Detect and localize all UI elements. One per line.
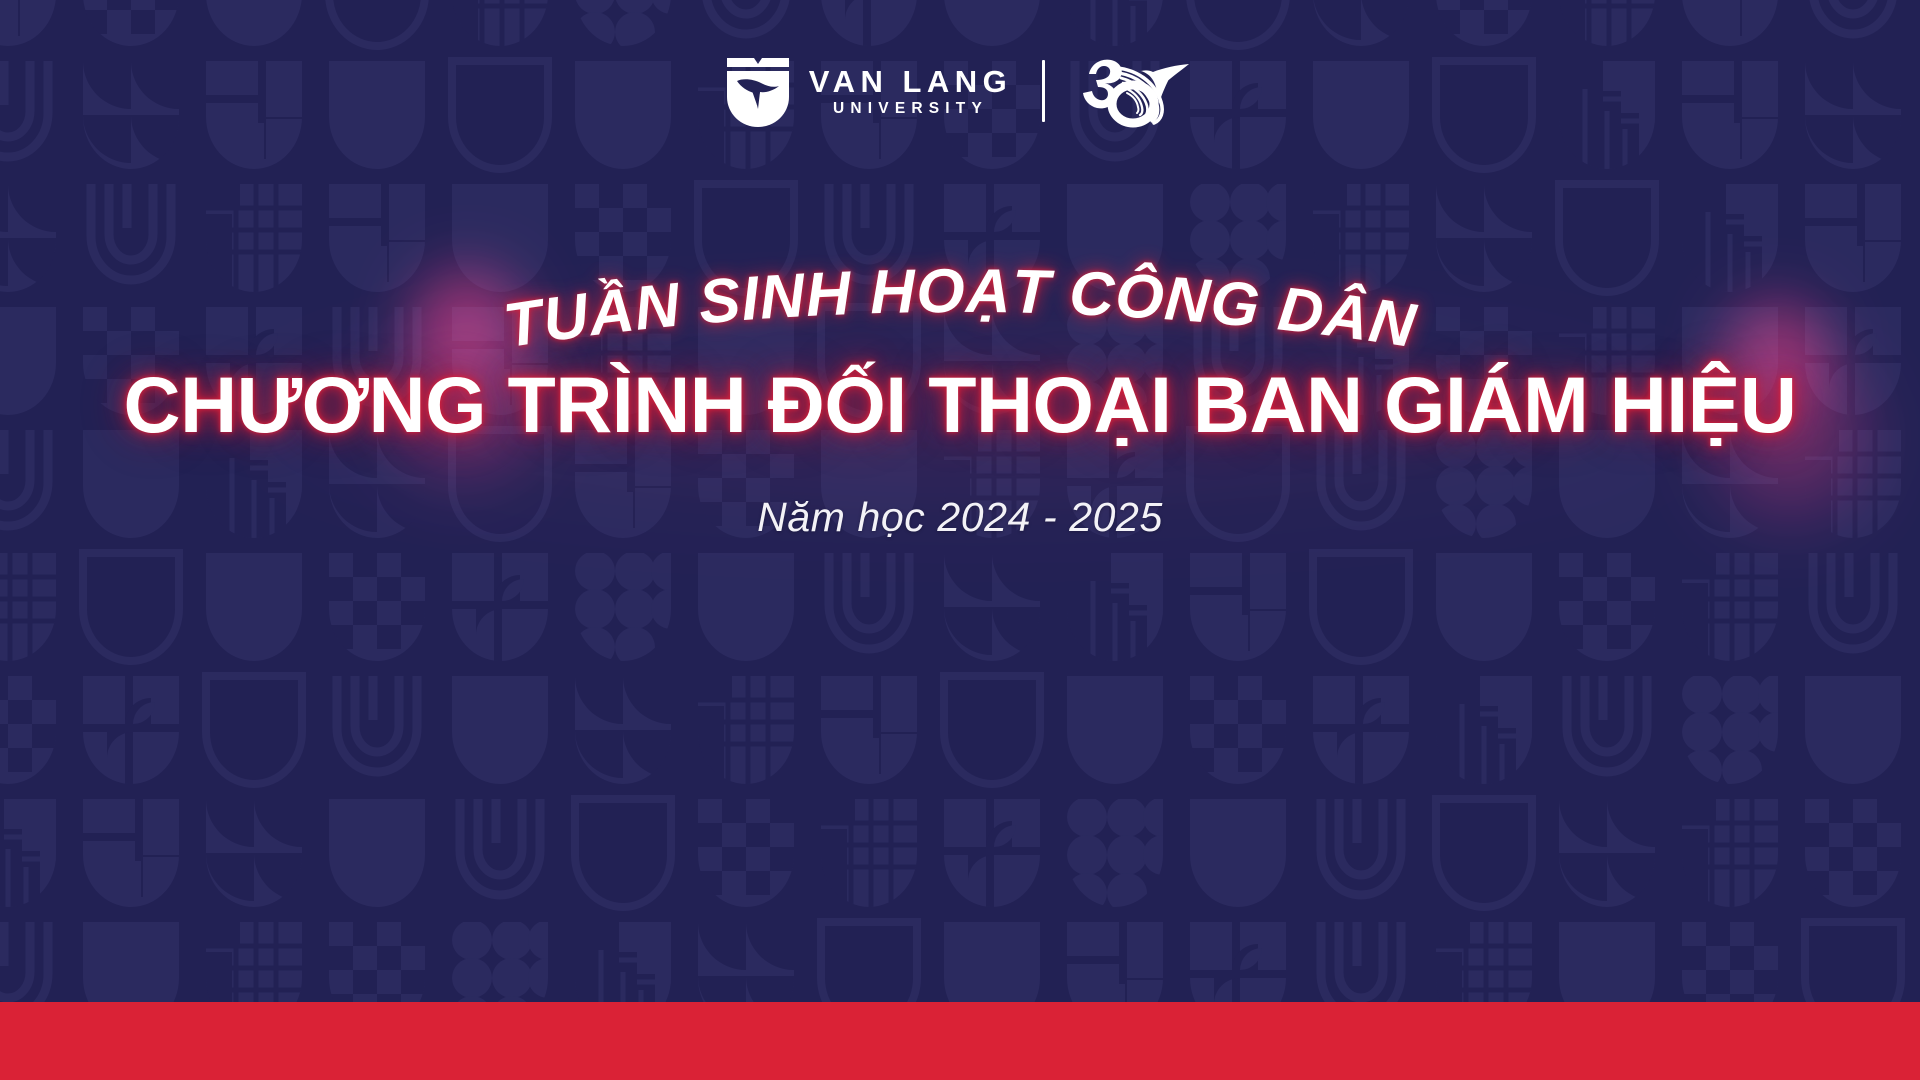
brand-subtitle: UNIVERSITY [809, 101, 1013, 117]
vanlang-brand-lockup: VAN LANG UNIVERSITY [727, 55, 1013, 127]
title-line-1: TUẦN SINH HOẠT CÔNG DÂN [500, 257, 1421, 361]
30-years-anniversary-icon [1075, 52, 1193, 130]
footer-accent-bar [0, 1002, 1920, 1080]
brand-wordmark: VAN LANG UNIVERSITY [809, 66, 1013, 117]
vanlang-shield-icon [727, 55, 789, 127]
poster-canvas: VAN LANG UNIVERSITY [0, 0, 1920, 1080]
svg-text:TUẦN SINH HOẠT CÔNG DÂN: TUẦN SINH HOẠT CÔNG DÂN [500, 257, 1421, 361]
vertical-divider [1042, 60, 1045, 122]
title-line-2: CHƯƠNG TRÌNH ĐỐI THOẠI BAN GIÁM HIỆU [0, 364, 1920, 446]
hero-subtitle: Năm học 2024 - 2025 [0, 494, 1920, 541]
title-line-1-arc: TUẦN SINH HOẠT CÔNG DÂN TUẦN SINH HOẠT C… [0, 258, 1920, 370]
logo-bar: VAN LANG UNIVERSITY [0, 52, 1920, 130]
hero-headline: TUẦN SINH HOẠT CÔNG DÂN TUẦN SINH HOẠT C… [0, 258, 1920, 541]
brand-name: VAN LANG [809, 66, 1013, 97]
